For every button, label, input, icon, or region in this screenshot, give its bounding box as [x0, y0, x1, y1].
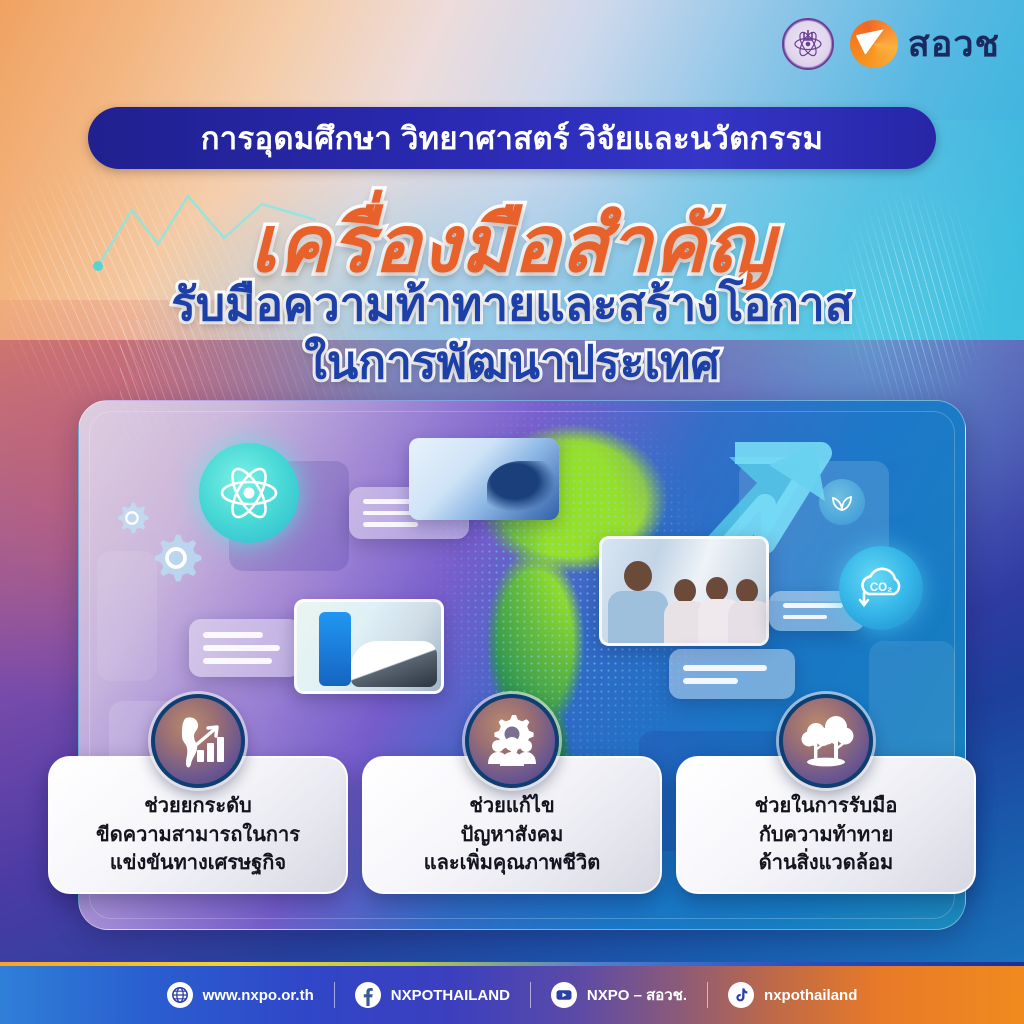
- ev-car-graphic: [351, 641, 437, 687]
- logo-group: สอวช: [782, 18, 1000, 70]
- page-subtitle: รับมือความท้าทายและสร้างโอกาส ในการพัฒนา…: [0, 276, 1024, 392]
- feature-card-list: ช่วยยกระดับ ขีดความสามารถในการ แข่งขันทา…: [44, 694, 980, 926]
- eyebrow-text: การอุดมศึกษา วิทยาศาสตร์ วิจัยและนวัตกรร…: [201, 113, 824, 163]
- seal-atom-glyph: [790, 26, 826, 62]
- person-body: [728, 601, 769, 646]
- youtube-icon: [551, 982, 577, 1008]
- gear-icon: [113, 499, 151, 537]
- nxpo-brand-logo: สอวช: [850, 20, 1000, 68]
- ministry-seal-logo: [782, 18, 834, 70]
- tiktok-icon: [728, 982, 754, 1008]
- trees-icon: [779, 694, 873, 788]
- laboratory-photo: [409, 438, 559, 520]
- co2-glyph: CO₂: [851, 560, 911, 616]
- co2-cloud-icon: CO₂: [839, 546, 923, 630]
- footer-link-youtube[interactable]: NXPO – สอวช.: [531, 982, 707, 1008]
- globe-icon: [167, 982, 193, 1008]
- facebook-icon: [355, 982, 381, 1008]
- ghost-text-card: [189, 619, 301, 677]
- footer-link-facebook[interactable]: NXPOTHAILAND: [335, 982, 530, 1008]
- footer-link-label: NXPO – สอวช.: [587, 983, 687, 1007]
- thailand-growth-glyph: [169, 712, 227, 770]
- ev-charging-photo: [294, 599, 444, 694]
- feature-card-text: ช่วยแก้ไข ปัญหาสังคม และเพิ่มคุณภาพชีวิต: [424, 792, 600, 877]
- atom-glyph: [215, 459, 283, 527]
- person-head: [624, 561, 652, 591]
- gear-icon: [147, 529, 205, 587]
- subtitle-line-1: รับมือความท้าทายและสร้างโอกาส: [0, 276, 1024, 334]
- tiktok-glyph: [732, 986, 750, 1004]
- youtube-glyph: [555, 986, 573, 1004]
- globe-glyph: [171, 986, 189, 1004]
- subtitle-line-2: ในการพัฒนาประเทศ: [0, 334, 1024, 392]
- person-body: [608, 591, 668, 646]
- person-head: [674, 579, 696, 603]
- footer-link-label: NXPOTHAILAND: [391, 987, 510, 1004]
- eyebrow-pill: การอุดมศึกษา วิทยาศาสตร์ วิจัยและนวัตกรร…: [88, 107, 936, 169]
- footer-links: www.nxpo.or.th NXPOTHAILAND: [0, 966, 1024, 1024]
- people-gear-icon: [465, 694, 559, 788]
- leaf-icon: [819, 479, 865, 525]
- poster-root: สอวช การอุดมศึกษา วิทยาศาสตร์ วิจัยและนว…: [0, 0, 1024, 1024]
- footer-link-tiktok[interactable]: nxpothailand: [708, 982, 877, 1008]
- feature-card-text: ช่วยยกระดับ ขีดความสามารถในการ แข่งขันทา…: [96, 792, 300, 877]
- ghost-text-card: [669, 649, 795, 699]
- person-head: [706, 577, 728, 601]
- footer-link-website[interactable]: www.nxpo.or.th: [147, 982, 334, 1008]
- ev-phone-graphic: [319, 612, 351, 686]
- footer-link-label: www.nxpo.or.th: [203, 987, 314, 1004]
- leaf-glyph: [828, 488, 856, 516]
- people-gear-glyph: [483, 712, 541, 770]
- footer-bar: www.nxpo.or.th NXPOTHAILAND: [0, 962, 1024, 1024]
- ghost-lines: [189, 619, 301, 677]
- team-people-photo: [599, 536, 769, 646]
- nxpo-arrow-icon: [850, 20, 898, 68]
- thailand-growth-chart-icon: [151, 694, 245, 788]
- facebook-glyph: [357, 984, 379, 1006]
- person-head: [736, 579, 758, 603]
- svg-text:CO₂: CO₂: [870, 582, 892, 594]
- trees-glyph: [797, 712, 855, 770]
- footer-link-label: nxpothailand: [764, 987, 857, 1004]
- brand-wordmark: สอวช: [908, 26, 1000, 62]
- ghost-lines: [669, 649, 795, 699]
- feature-card-text: ช่วยในการรับมือ กับความท้าทาย ด้านสิ่งแว…: [755, 792, 898, 877]
- atom-icon: [199, 443, 299, 543]
